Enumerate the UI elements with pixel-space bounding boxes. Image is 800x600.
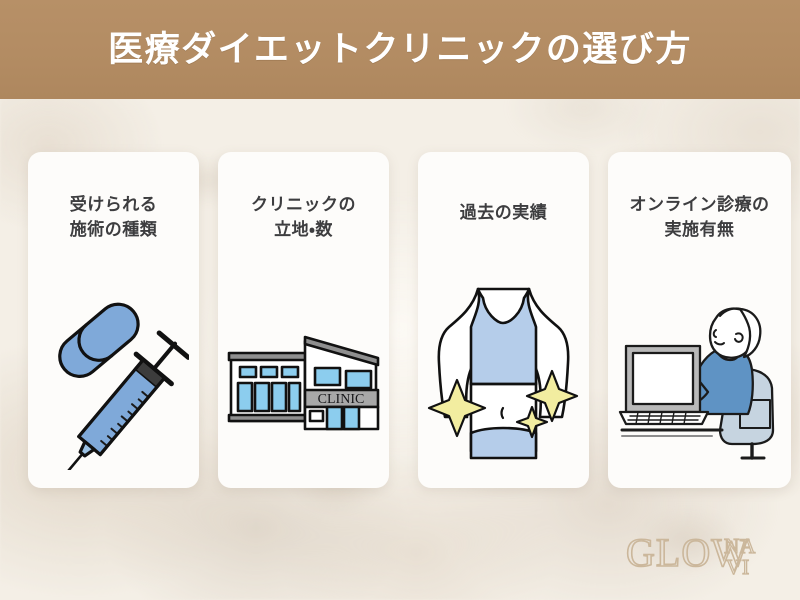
card-online-consultation[interactable]: オンライン診療の 実施有無	[608, 152, 791, 488]
brand-logo: GLOW NA VI	[626, 526, 786, 582]
card-title: 過去の実績	[418, 200, 589, 225]
pill-and-syringe-icon	[28, 272, 199, 488]
online-consultation-icon	[608, 272, 791, 488]
slide-root: 医療ダイエットクリニックの選び方 受けられる 施術の種類	[0, 0, 800, 600]
page-title: 医療ダイエットクリニックの選び方	[108, 32, 692, 67]
slim-body-sparkle-icon	[418, 272, 589, 488]
clinic-sign-text: CLINIC	[317, 392, 364, 407]
header-band: 医療ダイエットクリニックの選び方	[0, 0, 800, 99]
card-past-results[interactable]: 過去の実績	[418, 152, 589, 488]
card-clinic-location[interactable]: クリニックの 立地・数	[218, 152, 389, 488]
brand-vi-text: VI	[726, 555, 750, 579]
card-title: 受けられる 施術の種類	[28, 192, 199, 242]
clinic-building-icon: CLINIC	[218, 272, 389, 488]
card-treatment-types[interactable]: 受けられる 施術の種類	[28, 152, 199, 488]
card-title: オンライン診療の 実施有無	[608, 192, 791, 242]
card-title: クリニックの 立地・数	[218, 192, 389, 242]
